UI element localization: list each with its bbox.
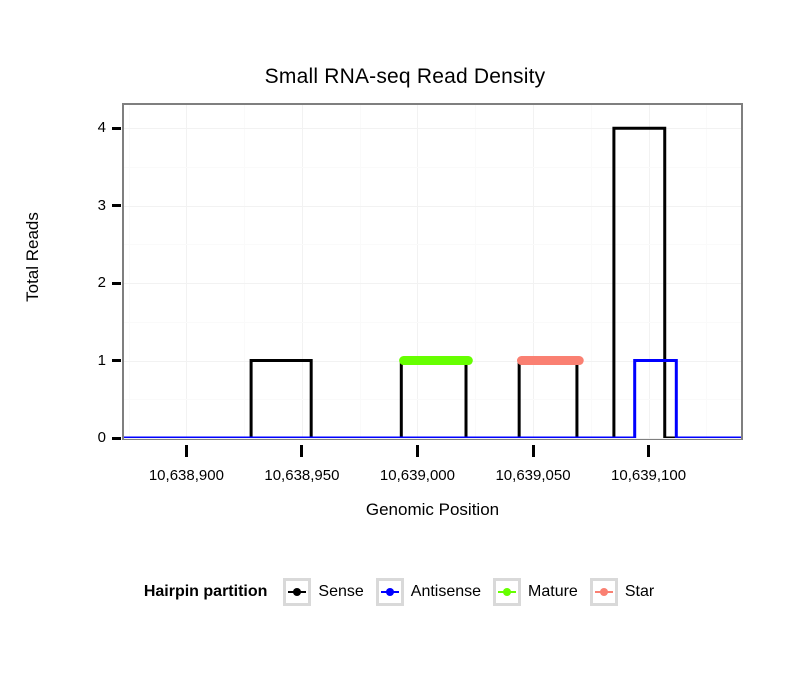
legend-key-dot-icon: [293, 588, 301, 596]
y-tick-mark: [112, 282, 121, 285]
y-tick-label: 3: [74, 198, 106, 213]
legend-key-star: [590, 578, 618, 606]
legend-key-dot-icon: [600, 588, 608, 596]
y-tick-mark: [112, 437, 121, 440]
legend: Hairpin partition SenseAntisenseMatureSt…: [0, 578, 810, 606]
legend-key-sense: [283, 578, 311, 606]
x-tick-label: 10,639,100: [579, 467, 719, 484]
legend-entry-antisense[interactable]: Antisense: [376, 578, 481, 606]
legend-label: Sense: [318, 583, 363, 601]
legend-entries: SenseAntisenseMatureStar: [283, 578, 666, 606]
y-tick-label: 4: [74, 120, 106, 135]
y-tick-mark: [112, 127, 121, 130]
y-tick-label: 0: [74, 430, 106, 445]
y-tick-mark: [112, 204, 121, 207]
x-tick-mark: [300, 445, 303, 457]
legend-key-dot-icon: [503, 588, 511, 596]
legend-entry-sense[interactable]: Sense: [283, 578, 363, 606]
legend-label: Star: [625, 583, 654, 601]
x-tick-mark: [647, 445, 650, 457]
plot-area: [124, 105, 741, 438]
legend-title: Hairpin partition: [144, 583, 268, 601]
legend-label: Antisense: [411, 583, 481, 601]
y-tick-label: 2: [74, 275, 106, 290]
chart-title: Small RNA-seq Read Density: [0, 65, 810, 89]
y-tick-mark: [112, 359, 121, 362]
series-line-antisense: [124, 361, 741, 438]
legend-entry-mature[interactable]: Mature: [493, 578, 578, 606]
x-tick-mark: [416, 445, 419, 457]
series-line-sense: [124, 128, 741, 438]
x-tick-mark: [532, 445, 535, 457]
gridline-horizontal-major: [124, 438, 741, 439]
x-axis-title: Genomic Position: [122, 500, 743, 520]
y-tick-label: 1: [74, 353, 106, 368]
legend-label: Mature: [528, 583, 578, 601]
y-axis-title: Total Reads: [23, 177, 43, 337]
plot-panel: [122, 103, 743, 440]
legend-key-mature: [493, 578, 521, 606]
data-series-layer: [124, 105, 741, 438]
legend-entry-star[interactable]: Star: [590, 578, 654, 606]
legend-key-antisense: [376, 578, 404, 606]
legend-key-dot-icon: [386, 588, 394, 596]
x-tick-mark: [185, 445, 188, 457]
chart-root: Small RNA-seq Read Density Total Reads 0…: [0, 0, 810, 690]
